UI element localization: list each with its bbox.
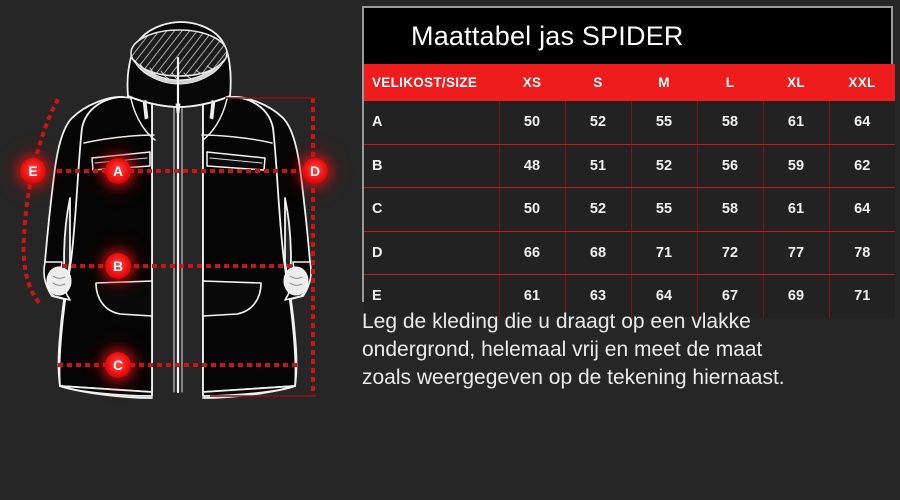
jacket-diagram-panel: E A B C D	[0, 0, 355, 500]
measurement-marker-e: E	[20, 158, 46, 184]
size-chart-page: E A B C D Maattabel jas SPIDER VELIKOST/…	[0, 0, 900, 500]
cell-a-m: 55	[631, 101, 697, 144]
size-table-card: Maattabel jas SPIDER VELIKOST/SIZE XS S …	[362, 6, 893, 302]
jacket-technical-drawing-icon	[0, 0, 355, 500]
row-label-a: A	[364, 101, 499, 144]
header-cell-size-label: VELIKOST/SIZE	[364, 64, 499, 101]
header-cell-xl: XL	[763, 64, 829, 101]
cell-c-l: 58	[697, 188, 763, 232]
row-label-c: C	[364, 188, 499, 232]
table-row: A 50 52 55 58 61 64	[364, 101, 895, 144]
header-cell-xs: XS	[499, 64, 565, 101]
measurement-marker-c: C	[105, 352, 131, 378]
cell-c-xs: 50	[499, 188, 565, 232]
header-cell-s: S	[565, 64, 631, 101]
cell-d-xl: 77	[763, 231, 829, 275]
cell-b-l: 56	[697, 144, 763, 188]
instructions-line-1: Leg de kleding die u draagt op een vlakk…	[362, 308, 900, 336]
table-row: D 66 68 71 72 77 78	[364, 231, 895, 275]
cell-a-xl: 61	[763, 101, 829, 144]
cell-b-xl: 59	[763, 144, 829, 188]
cell-b-s: 51	[565, 144, 631, 188]
cell-a-xs: 50	[499, 101, 565, 144]
measurement-marker-a: A	[105, 158, 131, 184]
table-row: C 50 52 55 58 61 64	[364, 188, 895, 232]
cell-c-m: 55	[631, 188, 697, 232]
measurement-marker-b: B	[105, 253, 131, 279]
measurement-marker-d: D	[302, 158, 328, 184]
size-table-title: Maattabel jas SPIDER	[364, 8, 891, 64]
cell-c-xl: 61	[763, 188, 829, 232]
row-label-b: B	[364, 144, 499, 188]
cell-c-xxl: 64	[829, 188, 895, 232]
size-table-header-row: VELIKOST/SIZE XS S M L XL XXL	[364, 64, 895, 101]
cell-d-xs: 66	[499, 231, 565, 275]
cell-c-s: 52	[565, 188, 631, 232]
cell-b-xs: 48	[499, 144, 565, 188]
row-label-d: D	[364, 231, 499, 275]
cell-b-xxl: 62	[829, 144, 895, 188]
cell-d-xxl: 78	[829, 231, 895, 275]
header-cell-m: M	[631, 64, 697, 101]
cell-d-l: 72	[697, 231, 763, 275]
cell-a-xxl: 64	[829, 101, 895, 144]
instructions-line-2: ondergrond, helemaal vrij en meet de maa…	[362, 336, 900, 364]
header-cell-xxl: XXL	[829, 64, 895, 101]
cell-d-s: 68	[565, 231, 631, 275]
size-table: VELIKOST/SIZE XS S M L XL XXL A 50 52 55…	[364, 64, 895, 318]
measuring-instructions: Leg de kleding die u draagt op een vlakk…	[362, 308, 900, 392]
cell-d-m: 71	[631, 231, 697, 275]
instructions-line-3: zoals weergegeven op de tekening hiernaa…	[362, 364, 900, 392]
cell-a-l: 58	[697, 101, 763, 144]
table-row: B 48 51 52 56 59 62	[364, 144, 895, 188]
header-cell-l: L	[697, 64, 763, 101]
cell-b-m: 52	[631, 144, 697, 188]
cell-a-s: 52	[565, 101, 631, 144]
